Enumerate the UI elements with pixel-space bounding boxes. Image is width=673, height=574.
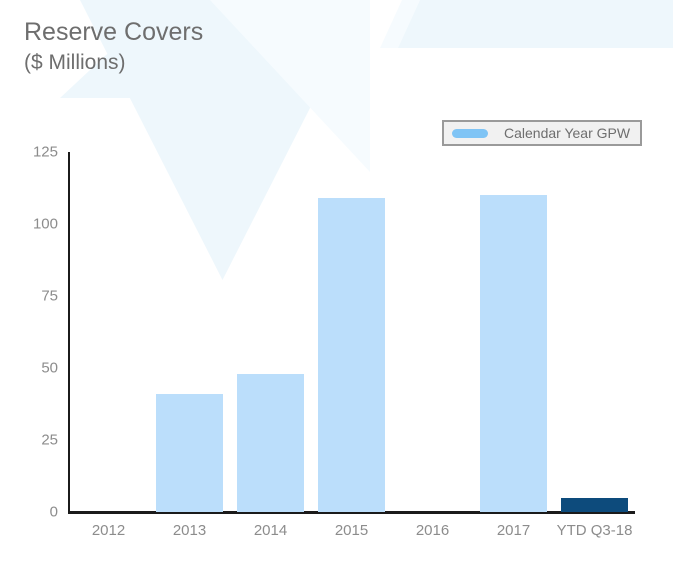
y-axis-line	[68, 152, 70, 512]
legend-item-label: Calendar Year GPW	[504, 125, 630, 141]
x-axis-tick-label: 2013	[173, 522, 206, 539]
x-axis-tick-label: 2012	[92, 522, 125, 539]
y-axis-tick-label: 25	[41, 432, 58, 449]
chart-legend[interactable]: Calendar Year GPW	[442, 120, 642, 146]
y-axis-tick-label: 100	[33, 216, 58, 233]
watermark-slash-shape	[380, 0, 420, 48]
plot-area: 0255075100125	[68, 152, 635, 512]
bar-2013[interactable]	[156, 394, 223, 512]
watermark-light-triangle-shape	[210, 0, 370, 172]
legend-swatch-icon	[452, 129, 488, 138]
x-axis-tick-label: 2014	[254, 522, 287, 539]
chart-page: Reserve Covers ($ Millions) Calendar Yea…	[0, 0, 673, 574]
y-axis-tick-label: 125	[33, 144, 58, 161]
x-axis-tick-label: YTD Q3-18	[557, 522, 633, 539]
title-block: Reserve Covers ($ Millions)	[24, 16, 203, 78]
x-axis-tick-label: 2016	[416, 522, 449, 539]
bar-2014[interactable]	[237, 374, 304, 512]
bar-2017[interactable]	[480, 195, 547, 512]
chart-subtitle: ($ Millions)	[24, 48, 203, 78]
x-axis-tick-label: 2017	[497, 522, 530, 539]
y-axis-tick-label: 50	[41, 360, 58, 377]
x-axis-labels: 201220132014201520162017YTD Q3-18	[68, 522, 668, 546]
y-axis-tick-label: 75	[41, 288, 58, 305]
bar-2015[interactable]	[318, 198, 385, 512]
bar-ytd-q3-18[interactable]	[561, 498, 628, 512]
chart-title: Reserve Covers	[24, 16, 203, 48]
y-axis-tick-label: 0	[50, 504, 58, 521]
watermark-corner-shape	[398, 0, 673, 48]
x-axis-tick-label: 2015	[335, 522, 368, 539]
